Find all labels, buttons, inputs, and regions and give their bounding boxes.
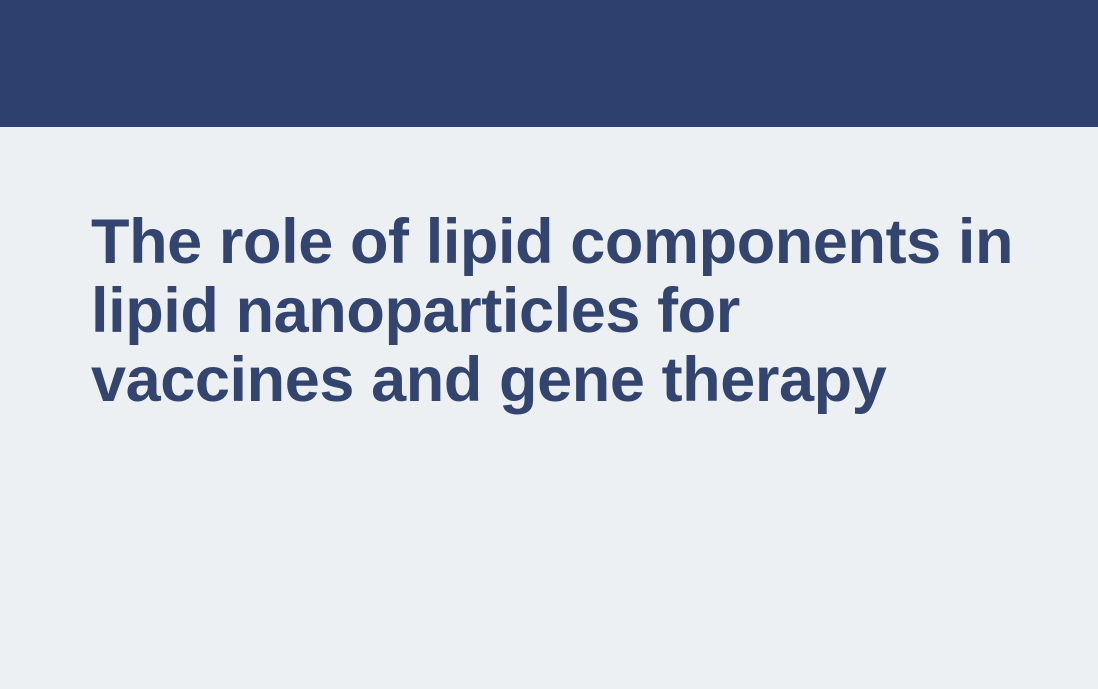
main-content: The role of lipid components in lipid na… [0, 127, 1098, 689]
page-root: The role of lipid components in lipid na… [0, 0, 1098, 689]
top-banner [0, 0, 1098, 127]
body-text [91, 437, 1016, 677]
page-title: The role of lipid components in lipid na… [91, 208, 1016, 415]
